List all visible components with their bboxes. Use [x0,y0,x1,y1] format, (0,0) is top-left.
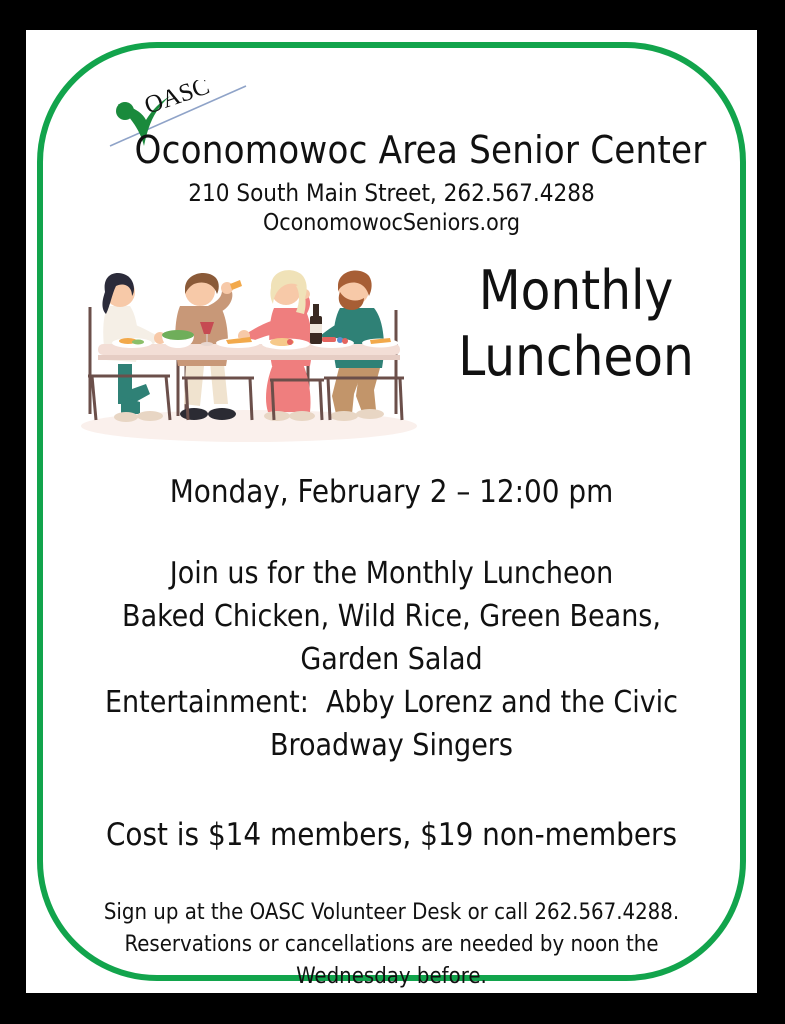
organization-address: 210 South Main Street, 262.567.4288 [66,178,717,208]
details-line: Baked Chicken, Wild Rice, Green Beans, [58,595,725,638]
footer-line: Sign up at the OASC Volunteer Desk or ca… [58,897,725,929]
logo-acronym-text: OASC [141,80,213,120]
flyer-content: OASC Oconomowoc Area Senior Center 210 S… [26,30,757,993]
details-line: Entertainment: Abby Lorenz and the Civic [58,681,725,724]
event-cost: Cost is $14 members, $19 non-members [58,813,725,857]
four-people-dining-at-table-illustration [74,244,424,444]
body-blocks: Monday, February 2 – 12:00 pm Join us fo… [26,470,757,993]
organization-website: OconomowocSeniors.org [66,208,717,238]
header: OASC Oconomowoc Area Senior Center 210 S… [66,30,717,210]
details-line: Broadway Singers [58,724,725,767]
organization-title: Oconomowoc Area Senior Center [66,128,717,172]
details-line: Garden Salad [58,638,725,681]
event-details: Join us for the Monthly Luncheon Baked C… [58,552,725,767]
event-title: Monthly Luncheon [426,258,726,390]
signup-instructions: Sign up at the OASC Volunteer Desk or ca… [58,897,725,993]
event-title-line-2: Luncheon [426,324,726,390]
hero-section: Monthly Luncheon [26,244,757,454]
flyer-sheet: OASC Oconomowoc Area Senior Center 210 S… [26,30,757,993]
flyer-page: OASC Oconomowoc Area Senior Center 210 S… [0,0,785,1024]
event-datetime: Monday, February 2 – 12:00 pm [58,470,725,514]
footer-line: Reservations or cancellations are needed… [58,929,725,961]
event-title-line-1: Monthly [426,258,726,324]
footer-line: Wednesday before. [58,961,725,993]
details-line: Join us for the Monthly Luncheon [58,552,725,595]
